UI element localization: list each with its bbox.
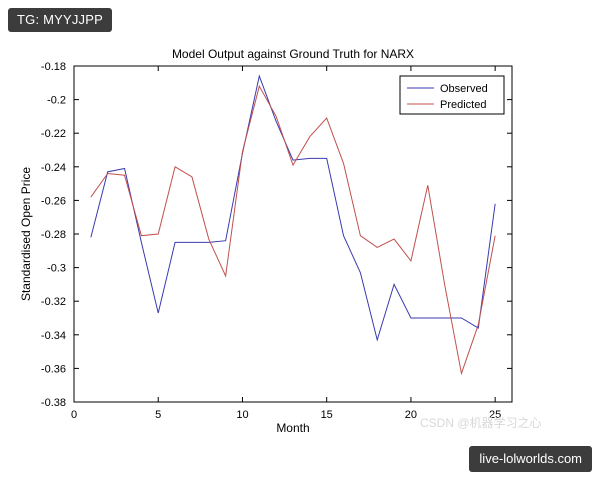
csdn-watermark: CSDN @机器学习之心 — [420, 414, 542, 431]
y-tick-label: -0.3 — [47, 263, 66, 275]
chart-svg: 0510152025 -0.38-0.36-0.34-0.32-0.3-0.28… — [0, 0, 600, 480]
y-axis-title: Standardised Open Price — [19, 167, 33, 301]
x-tick-label: 5 — [155, 409, 161, 421]
x-tick-label: 10 — [236, 409, 248, 421]
x-tick-label: 20 — [405, 409, 417, 421]
y-tick-label: -0.36 — [41, 363, 66, 375]
y-tick-label: -0.26 — [41, 195, 66, 207]
y-tick-label: -0.2 — [47, 95, 66, 107]
tag-badge: TG: MYYJJPP — [8, 8, 112, 32]
legend-label-predicted: Predicted — [440, 99, 486, 111]
y-tick-label: -0.24 — [41, 162, 66, 174]
y-tick-label: -0.18 — [41, 61, 66, 73]
figure-container: 0510152025 -0.38-0.36-0.34-0.32-0.3-0.28… — [0, 0, 600, 480]
legend-label-observed: Observed — [440, 83, 488, 95]
x-tick-label: 15 — [321, 409, 333, 421]
y-tick-label: -0.28 — [41, 229, 66, 241]
y-tick-label: -0.38 — [41, 397, 66, 409]
chart-title: Model Output against Ground Truth for NA… — [172, 47, 414, 61]
x-tick-label: 0 — [71, 409, 77, 421]
y-tick-label: -0.34 — [41, 330, 66, 342]
site-watermark: live-lolworlds.com — [469, 446, 592, 472]
legend: Observed Predicted — [400, 76, 504, 114]
x-axis-title: Month — [276, 421, 309, 435]
y-tick-label: -0.22 — [41, 128, 66, 140]
y-tick-label: -0.32 — [41, 296, 66, 308]
